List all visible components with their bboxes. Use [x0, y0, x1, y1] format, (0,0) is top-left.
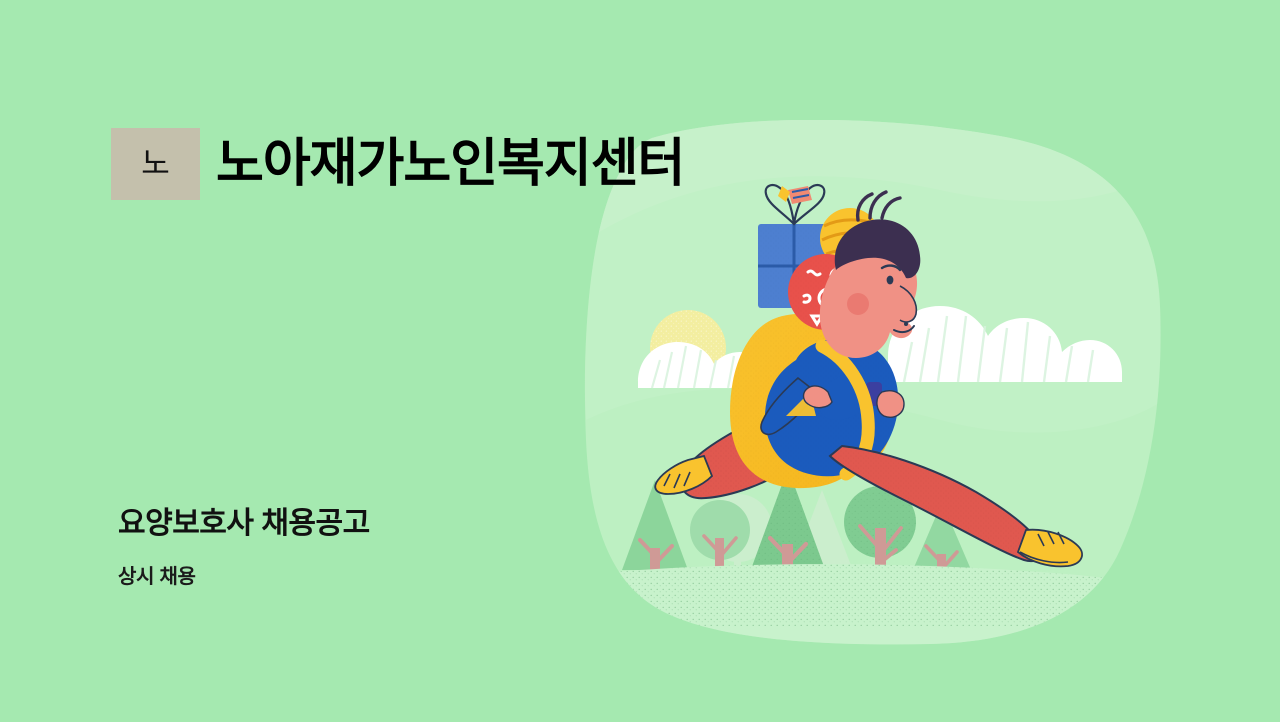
- job-posting-poster: 노 노아재가노인복지센터 요양보호사 채용공고 상시 채용: [0, 0, 1280, 722]
- logo-glyph: 노: [141, 149, 170, 180]
- job-title: 요양보호사 채용공고: [118, 505, 370, 543]
- recruitment-status: 상시 채용: [118, 565, 370, 589]
- organization-logo-badge: 노: [111, 128, 200, 200]
- organization-name: 노아재가노인복지센터: [216, 138, 684, 190]
- running-delivery-man-illustration: [560, 120, 1180, 660]
- posting-copy-block: 요양보호사 채용공고 상시 채용: [118, 505, 370, 589]
- poster-header: 노 노아재가노인복지센터: [111, 128, 684, 200]
- ground-band: [570, 564, 1170, 660]
